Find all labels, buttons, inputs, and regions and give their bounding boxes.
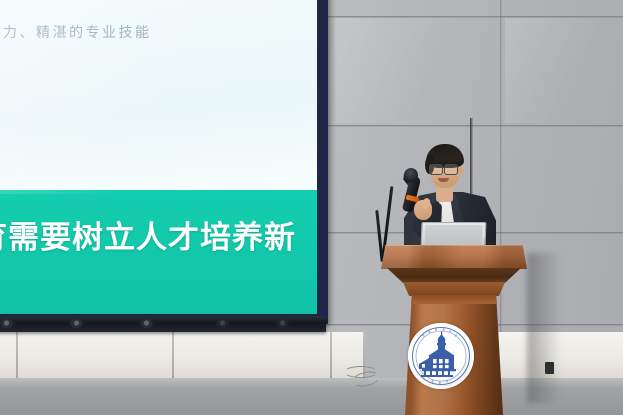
wainscot-seam	[16, 332, 18, 379]
slide-body-line-1: 业能力、精湛的专业技能	[0, 22, 152, 42]
speaker-grill-icon	[138, 319, 155, 328]
screen-surface: 业能力、精湛的专业技能 化 育需要树立人才培养新	[0, 0, 317, 314]
wainscot-seam	[172, 332, 174, 379]
wainscot-seam	[330, 332, 332, 379]
speaker-grill-icon	[274, 319, 291, 328]
speaker-grill-icon	[214, 319, 231, 328]
wooden-podium	[381, 245, 527, 415]
conference-photo: 业能力、精湛的专业技能 化 育需要树立人才培养新	[0, 0, 623, 415]
eyeglasses-lens	[429, 164, 443, 175]
laptop-screen	[425, 225, 483, 246]
eyeglasses-lens	[444, 164, 458, 175]
presentation-screen: 业能力、精湛的专业技能 化 育需要树立人才培养新	[0, 0, 328, 324]
speaker-grill-icon	[68, 319, 85, 328]
institution-seal	[408, 323, 474, 389]
eyeglasses-bridge	[441, 167, 445, 168]
screen-trim-bar	[0, 316, 326, 332]
wood-grain	[381, 245, 527, 269]
eyebrow	[430, 161, 441, 163]
podium-neck	[403, 282, 505, 296]
podium-lip	[387, 268, 521, 283]
slide-banner-title: 育需要树立人才培养新	[0, 212, 296, 257]
podium-shadow	[527, 253, 561, 403]
seal-building-icon	[408, 323, 474, 389]
podium-column-cap	[405, 295, 503, 304]
speaker-grill-icon	[0, 319, 15, 328]
wainscot-left	[0, 332, 365, 379]
eyebrow	[444, 161, 455, 163]
